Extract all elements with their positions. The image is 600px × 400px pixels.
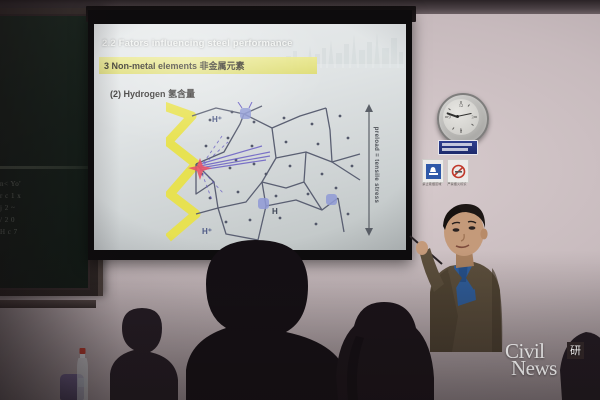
no-smoking-icon — [451, 164, 466, 179]
no-smoking-sign — [447, 159, 469, 183]
clock-face: 123 69 — [443, 99, 479, 135]
blue-pictogram-sign — [422, 159, 444, 183]
lecture-hall-photo: n< Yo' r c 1 x j 2 ~ / 2 0 H c 7 — [0, 0, 600, 400]
hand-wash-icon — [426, 164, 441, 179]
preload-axis: preload = tensile stress — [362, 104, 376, 236]
blue-sign-caption: 禁止吸烟区域 — [420, 182, 444, 186]
foreground-shadow — [0, 250, 600, 400]
svg-text:12: 12 — [459, 103, 463, 108]
svg-text:3: 3 — [471, 115, 473, 120]
svg-text:H⁺: H⁺ — [212, 115, 222, 124]
slide-title: 2.2 Fators influencing steel performance — [102, 38, 293, 49]
svg-text:6: 6 — [460, 127, 462, 132]
blue-notice-sign — [438, 140, 478, 155]
preload-axis-label: preload = tensile stress — [373, 102, 379, 228]
slide-section-heading: 3 Non-metal elements 非金属元素 — [104, 59, 245, 72]
clock-ticks: 123 69 — [443, 99, 479, 135]
projected-slide: 2.2 Fators influencing steel performance… — [94, 24, 406, 250]
wall-clock: 123 69 — [437, 93, 489, 145]
svg-text:H: H — [272, 207, 278, 216]
slide-subsection-heading: (2) Hydrogen 氢含量 — [110, 87, 195, 100]
red-sign-caption: 严禁烟火标识 — [445, 182, 469, 186]
